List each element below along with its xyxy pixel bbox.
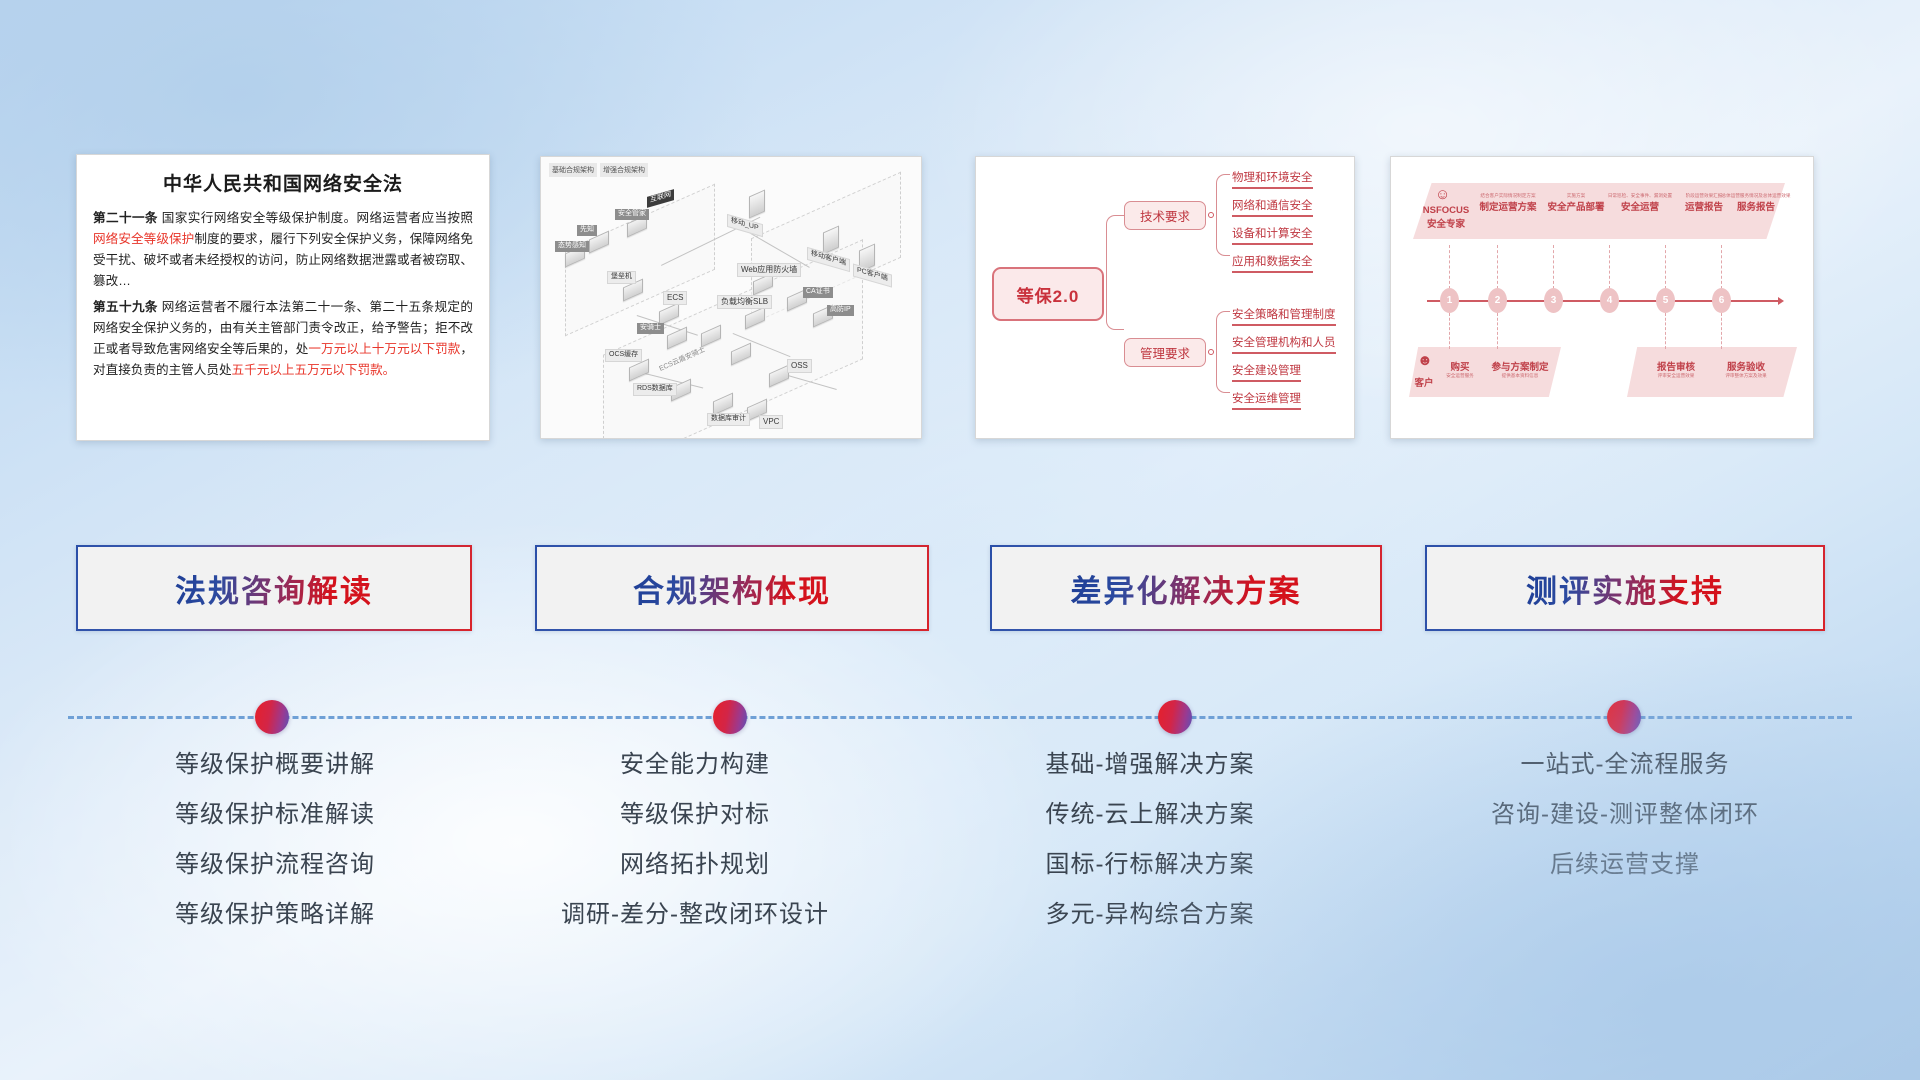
list-item: 一站式-全流程服务 — [1400, 740, 1850, 790]
plane-upper-left — [565, 184, 715, 337]
mindmap-leaf-network: 网络和通信安全 — [1232, 197, 1313, 217]
tick-b1 — [1449, 313, 1450, 349]
timeline-node-2[interactable] — [713, 700, 747, 734]
bottom-step-3: 报告审核 评审安全运营效果 — [1645, 359, 1707, 379]
article-59-highlight-1: 一万元以上十万元以下罚款 — [308, 342, 460, 356]
law-document: 中华人民共和国网络安全法 第二十一条 国家实行网络安全等级保护制度。网络运营者应… — [77, 155, 489, 396]
expert-person-icon: ☺ — [1435, 187, 1450, 202]
connector-management-leaves — [1216, 311, 1230, 393]
list-item: 基础-增强解决方案 — [940, 740, 1360, 790]
mindmap-leaf-construction: 安全建设管理 — [1232, 362, 1301, 382]
label-rds: RDS数据库 — [633, 383, 677, 396]
label-high-def-ip: 高防IP — [827, 305, 854, 316]
list-item: 后续运营支撑 — [1400, 840, 1850, 890]
list-item: 网络拓扑规划 — [480, 840, 910, 890]
label-oss: OSS — [787, 359, 812, 373]
branch-management-dot — [1208, 349, 1214, 355]
list-item: 咨询-建设-测评整体闭环 — [1400, 790, 1850, 840]
list-item: 安全能力构建 — [480, 740, 910, 790]
label-ocs: OCS缓存 — [605, 349, 642, 362]
mindmap-branch-technical: 技术要求 — [1124, 201, 1206, 230]
top-step-1-title: 制定运营方案 — [1475, 199, 1541, 213]
customer-role-label: 客户 — [1409, 375, 1439, 389]
label-bastion: 堡垒机 — [607, 271, 636, 284]
banner-differentiated-solution[interactable]: 差异化解决方案 — [990, 545, 1382, 631]
timeline-node-1[interactable] — [255, 700, 289, 734]
mindmap-leaf-org: 安全管理机构和人员 — [1232, 334, 1336, 354]
detail-column-2: 安全能力构建 等级保护对标 网络拓扑规划 调研-差分-整改闭环设计 — [480, 740, 910, 940]
tick-2 — [1497, 245, 1498, 289]
label-slb: 负载均衡SLB — [717, 295, 772, 309]
timeline-number-3: 3 — [1544, 288, 1563, 313]
mindmap-leaf-physical: 物理和环境安全 — [1232, 169, 1313, 189]
top-step-2: 实施方案 安全产品部署 — [1543, 193, 1609, 213]
slide-canvas: 中华人民共和国网络安全法 第二十一条 国家实行网络安全等级保护制度。网络运营者应… — [0, 0, 1920, 1080]
detail-column-3: 基础-增强解决方案 传统-云上解决方案 国标-行标解决方案 多元-异构综合方案 — [940, 740, 1360, 940]
tick-b5 — [1665, 313, 1666, 349]
bottom-step-4: 服务验收 评审整体方案及效果 — [1713, 359, 1779, 379]
label-ca-cert: CA证书 — [803, 287, 833, 298]
timeline-node-4[interactable] — [1607, 700, 1641, 734]
list-item: 传统-云上解决方案 — [940, 790, 1360, 840]
article-21-highlight: 网络安全等级保护 — [93, 232, 194, 246]
bottom-step-1-sub: 安全运营服务 — [1437, 373, 1483, 379]
top-step-5: 总体运营服务情况及总体运营效果 服务报告 — [1721, 193, 1791, 213]
banner-3-label: 差异化解决方案 — [1071, 566, 1302, 611]
detail-column-1: 等级保护概要讲解 等级保护标准解读 等级保护流程咨询 等级保护策略详解 — [60, 740, 490, 940]
top-step-3-title: 安全运营 — [1605, 199, 1675, 213]
list-item: 等级保护策略详解 — [60, 890, 490, 940]
list-item: 等级保护流程咨询 — [60, 840, 490, 890]
list-item: 多元-异构综合方案 — [940, 890, 1360, 940]
node-mobile-up — [749, 189, 765, 218]
label-vpc: VPC — [759, 415, 783, 429]
branch-technical-dot — [1208, 212, 1214, 218]
timeline-number-5: 5 — [1656, 288, 1675, 313]
list-item: 等级保护对标 — [480, 790, 910, 840]
banner-row: 法规咨询解读 合规架构体现 差异化解决方案 测评实施支持 — [0, 545, 1920, 635]
banner-4-label: 测评实施支持 — [1526, 566, 1724, 611]
nsfocus-expert-role: NSFOCUS 安全专家 — [1417, 205, 1475, 230]
card-cybersecurity-law[interactable]: 中华人民共和国网络安全法 第二十一条 国家实行网络安全等级保护制度。网络运营者应… — [76, 154, 490, 441]
tick-4 — [1609, 245, 1610, 289]
label-db-audit: 数据库审计 — [707, 413, 750, 426]
tick-3 — [1553, 245, 1554, 289]
timeline-number-4: 4 — [1600, 288, 1619, 313]
mindmap-branch-management: 管理要求 — [1124, 338, 1206, 367]
top-step-2-title: 安全产品部署 — [1543, 199, 1609, 213]
bottom-step-4-title: 服务验收 — [1713, 359, 1779, 373]
tick-b6 — [1721, 313, 1722, 349]
connector-technical-leaves — [1216, 174, 1230, 256]
label-xianzhi: 先知 — [577, 225, 597, 236]
bottom-step-4-sub: 评审整体方案及效果 — [1713, 373, 1779, 379]
mindmap-leaf-operations: 安全运维管理 — [1232, 390, 1301, 410]
mindmap-root: 等保2.0 — [992, 267, 1104, 321]
banner-regulation-consulting[interactable]: 法规咨询解读 — [76, 545, 472, 631]
architecture-diagram: 基础合规架构 增强合规架构 — [541, 157, 921, 438]
bottom-step-3-sub: 评审安全运营效果 — [1645, 373, 1707, 379]
nsfocus-timeline: ☺ NSFOCUS 安全专家 结合客户实际情况制定方案 制定运营方案 实施方案 … — [1391, 157, 1813, 438]
tick-b2 — [1497, 313, 1498, 349]
bottom-step-1: 购买 安全运营服务 — [1437, 359, 1483, 379]
bottom-step-1-title: 购买 — [1437, 359, 1483, 373]
list-item: 调研-差分-整改闭环设计 — [480, 890, 910, 940]
card-dengbao-mindmap[interactable]: 等保2.0 技术要求 物理和环境安全 网络和通信安全 设备和计算安全 应用和数据… — [975, 156, 1355, 439]
connector-root-branches — [1106, 215, 1124, 330]
bottom-step-2: 参与方案制定 提供基本资料信息 — [1483, 359, 1557, 379]
expert-role-line2: 安全专家 — [1417, 216, 1475, 230]
banner-1-label: 法规咨询解读 — [175, 566, 373, 611]
mindmap-leaf-policy: 安全策略和管理制度 — [1232, 306, 1336, 326]
law-article-59: 第五十九条 网络运营者不履行本法第二十一条、第二十五条规定的网络安全保护义务的，… — [93, 297, 473, 381]
top-step-5-title: 服务报告 — [1721, 199, 1791, 213]
label-security-steward: 安全管家 — [615, 209, 649, 220]
law-title: 中华人民共和国网络安全法 — [93, 169, 473, 196]
architecture-tabs: 基础合规架构 增强合规架构 — [549, 163, 648, 177]
bottom-step-3-title: 报告审核 — [1645, 359, 1707, 373]
article-59-highlight-2: 五千元以上五万元以下罚款。 — [232, 363, 396, 377]
thumbnail-cards-row: 中华人民共和国网络安全法 第二十一条 国家实行网络安全等级保护制度。网络运营者应… — [0, 152, 1920, 452]
customer-person-icon: ☻ — [1417, 353, 1433, 368]
timeline-strip — [0, 700, 1920, 734]
tab-basic-architecture[interactable]: 基础合规架构 — [549, 163, 597, 177]
expert-role-line1: NSFOCUS — [1417, 205, 1475, 216]
banner-assessment-support[interactable]: 测评实施支持 — [1425, 545, 1825, 631]
label-anqishi: 安骑士 — [637, 323, 664, 334]
banner-2-label: 合规架构体现 — [633, 566, 831, 611]
mindmap: 等保2.0 技术要求 物理和环境安全 网络和通信安全 设备和计算安全 应用和数据… — [976, 157, 1354, 438]
label-waf: Web应用防火墙 — [737, 263, 801, 277]
bottom-step-2-sub: 提供基本资料信息 — [1483, 373, 1557, 379]
top-step-1: 结合客户实际情况制定方案 制定运营方案 — [1475, 193, 1541, 213]
detail-columns: 等级保护概要讲解 等级保护标准解读 等级保护流程咨询 等级保护策略详解 安全能力… — [0, 740, 1920, 1040]
card-nsfocus-service-timeline[interactable]: ☺ NSFOCUS 安全专家 结合客户实际情况制定方案 制定运营方案 实施方案 … — [1390, 156, 1814, 439]
tick-5 — [1665, 245, 1666, 289]
bottom-step-2-title: 参与方案制定 — [1483, 359, 1557, 373]
timeline-number-2: 2 — [1488, 288, 1507, 313]
timeline-number-6: 6 — [1712, 288, 1731, 313]
list-item: 国标-行标解决方案 — [940, 840, 1360, 890]
label-ecs: ECS — [663, 291, 687, 305]
tick-6 — [1721, 245, 1722, 289]
article-21-label: 第二十一条 — [93, 211, 158, 225]
mindmap-leaf-application: 应用和数据安全 — [1232, 253, 1313, 273]
tab-enhanced-architecture[interactable]: 增强合规架构 — [600, 163, 648, 177]
banner-compliance-architecture[interactable]: 合规架构体现 — [535, 545, 929, 631]
mindmap-leaf-device: 设备和计算安全 — [1232, 225, 1313, 245]
article-59-label: 第五十九条 — [93, 300, 158, 314]
article-21-text-a: 国家实行网络安全等级保护制度。网络运营者应当按照 — [158, 211, 473, 225]
law-article-21: 第二十一条 国家实行网络安全等级保护制度。网络运营者应当按照网络安全等级保护制度… — [93, 208, 473, 292]
top-step-3: 日常巡检、安全事件、漏洞处置 安全运营 — [1605, 193, 1675, 213]
detail-column-4: 一站式-全流程服务 咨询-建设-测评整体闭环 后续运营支撑 — [1400, 740, 1850, 890]
label-situational: 态势感知 — [555, 241, 589, 252]
tick-1 — [1449, 245, 1450, 289]
customer-role: 客户 — [1409, 375, 1439, 389]
timeline-number-1: 1 — [1440, 288, 1459, 313]
list-item: 等级保护标准解读 — [60, 790, 490, 840]
timeline-node-3[interactable] — [1158, 700, 1192, 734]
card-compliance-architecture[interactable]: 基础合规架构 增强合规架构 — [540, 156, 922, 439]
list-item: 等级保护概要讲解 — [60, 740, 490, 790]
timeline-dashed-line — [68, 716, 1852, 719]
